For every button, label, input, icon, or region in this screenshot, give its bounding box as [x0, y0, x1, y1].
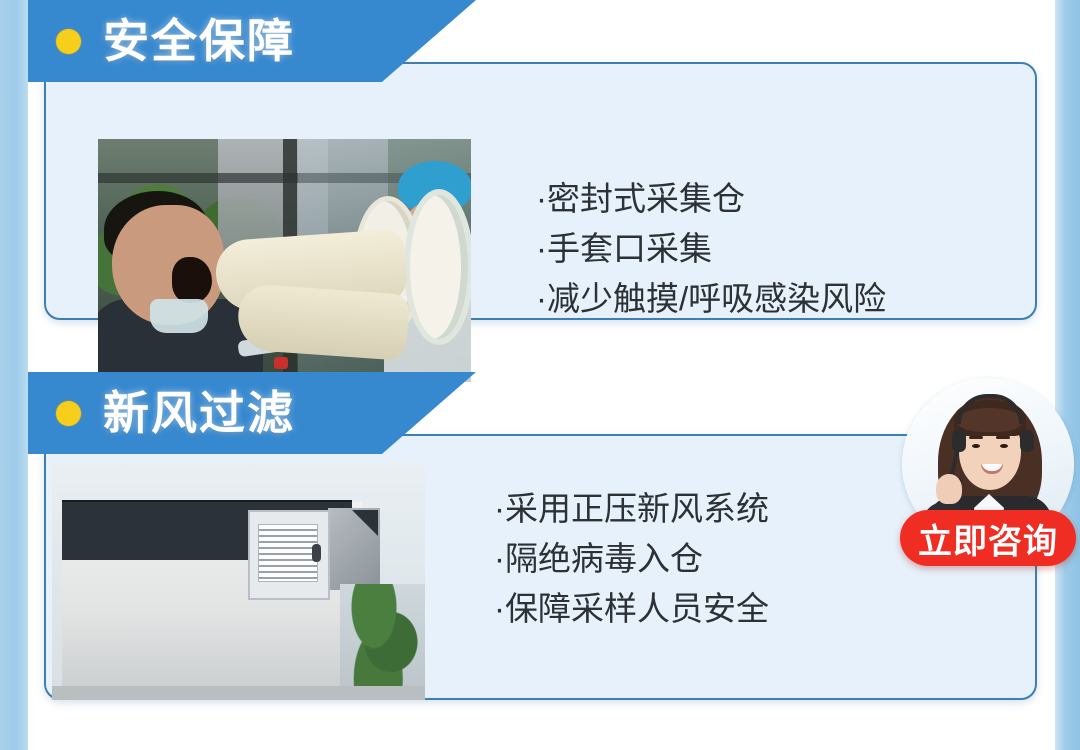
- list-item: ·隔绝病毒入仓: [494, 534, 769, 584]
- section-safety-title: 安全保障: [103, 18, 295, 64]
- page-root: ·密封式采集仓 ·手套口采集 ·减少触摸/呼吸感染风险 安全保障 ·采用正压新风…: [0, 0, 1080, 750]
- section-fresh-air-bullet-list: ·采用正压新风系统 ·隔绝病毒入仓 ·保障采样人员安全: [494, 484, 769, 634]
- list-item: ·保障采样人员安全: [494, 584, 769, 634]
- bullet-dot-icon: [56, 401, 81, 426]
- list-item: ·密封式采集仓: [536, 174, 886, 224]
- section-fresh-air-title: 新风过滤: [103, 390, 295, 436]
- list-item: ·采用正压新风系统: [494, 484, 769, 534]
- section-safety-card: ·密封式采集仓 ·手套口采集 ·减少触摸/呼吸感染风险: [44, 62, 1037, 320]
- list-item: ·手套口采集: [536, 224, 886, 274]
- list-item: ·减少触摸/呼吸感染风险: [536, 274, 886, 324]
- section-fresh-air-photo: [52, 462, 425, 700]
- section-safety: ·密封式采集仓 ·手套口采集 ·减少触摸/呼吸感染风险 安全保障: [0, 0, 1080, 330]
- section-safety-photo: [98, 139, 471, 382]
- consult-widget[interactable]: 立即咨询: [902, 378, 1074, 578]
- bullet-dot-icon: [56, 29, 81, 54]
- consult-now-button[interactable]: 立即咨询: [900, 510, 1076, 566]
- section-safety-bullet-list: ·密封式采集仓 ·手套口采集 ·减少触摸/呼吸感染风险: [536, 174, 886, 324]
